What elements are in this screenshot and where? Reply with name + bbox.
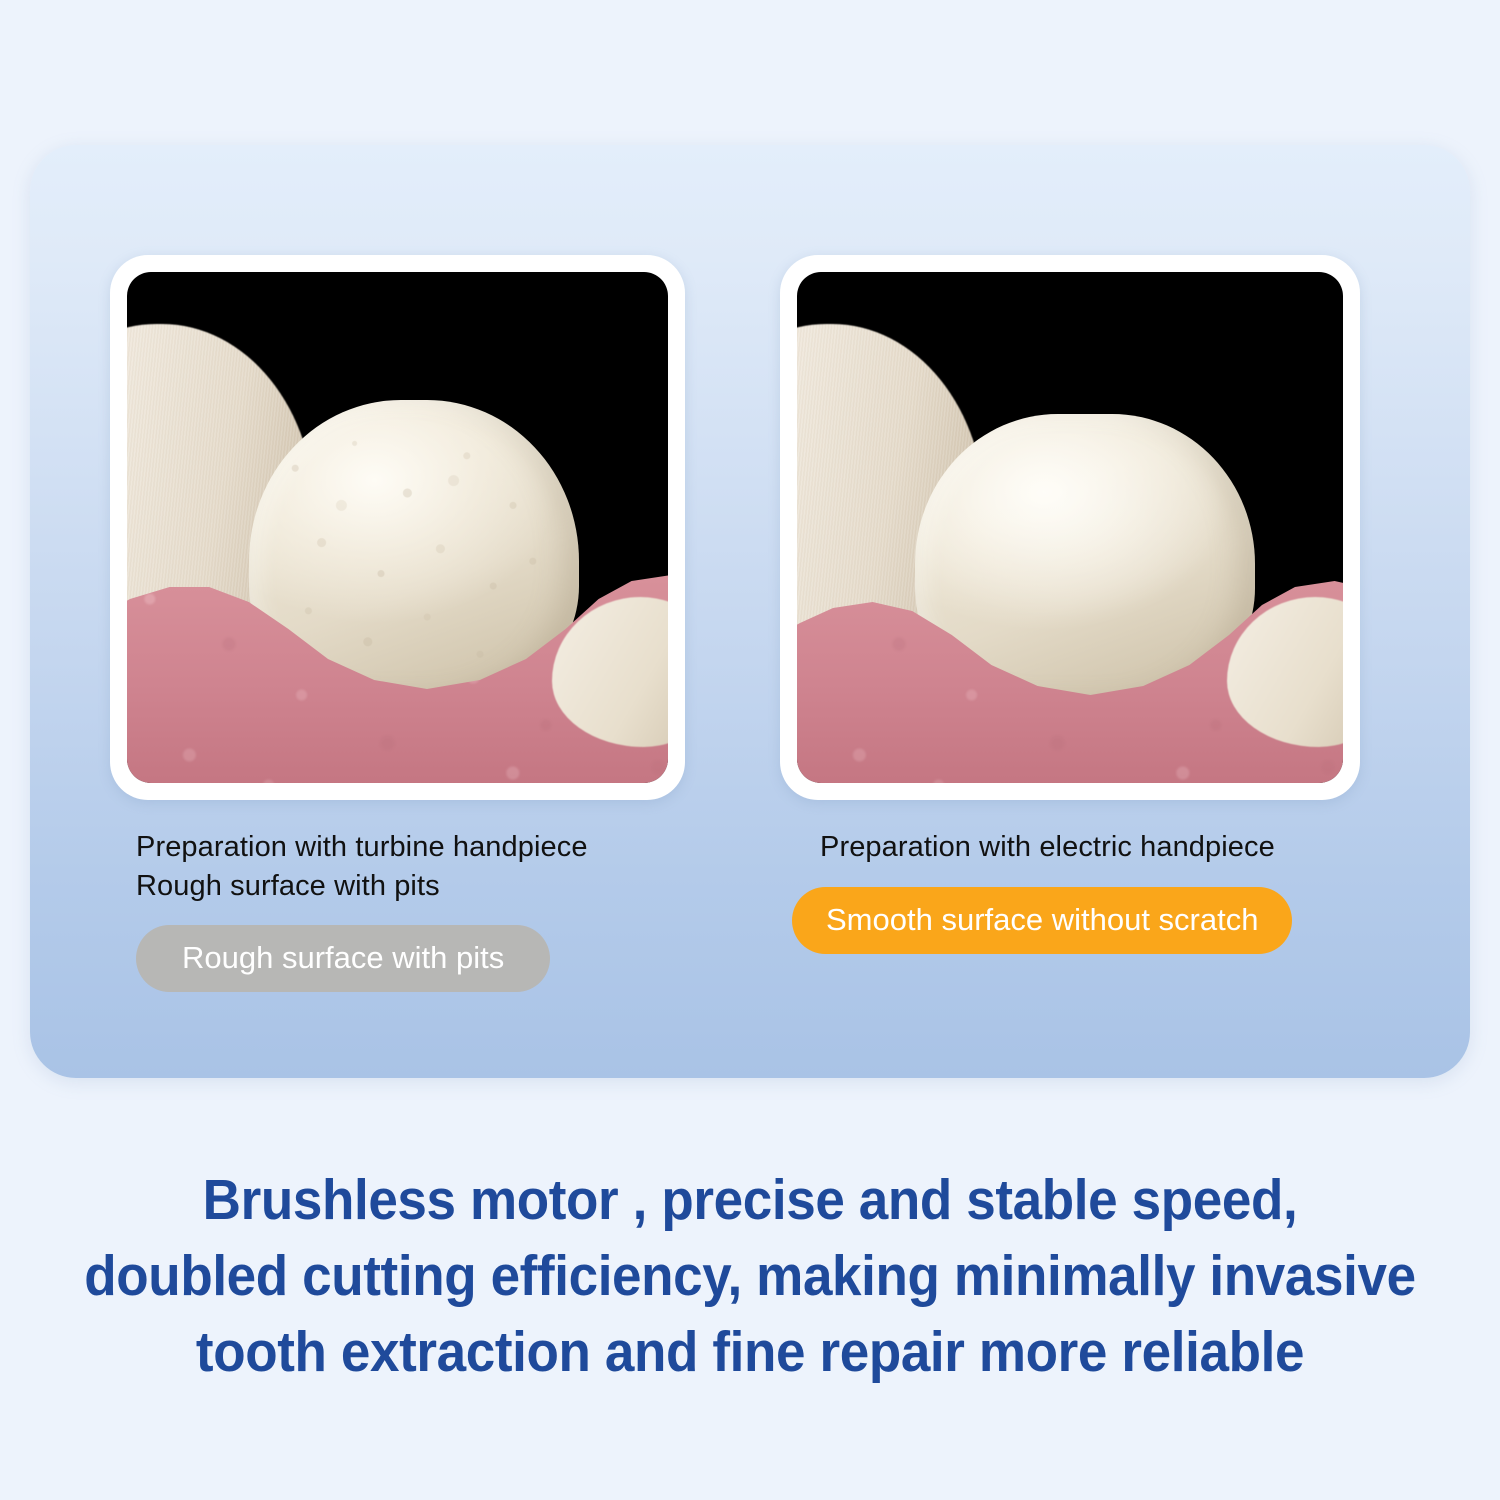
panel-electric: Preparation with electric handpiece Smoo… — [780, 255, 1390, 954]
badge-rough-surface: Rough surface with pits — [136, 925, 550, 992]
caption-line-2: Rough surface with pits — [136, 867, 700, 906]
headline: Brushless motor , precise and stable spe… — [53, 1163, 1448, 1390]
caption-line-1: Preparation with turbine handpiece — [136, 828, 700, 867]
headline-line-2: doubled cutting efficiency, making minim… — [53, 1239, 1448, 1315]
dental-illustration-turbine — [127, 272, 668, 783]
panel-turbine: Preparation with turbine handpiece Rough… — [110, 255, 700, 992]
photo-frame-turbine — [110, 255, 685, 800]
headline-line-3: tooth extraction and fine repair more re… — [53, 1315, 1448, 1391]
badge-smooth-surface: Smooth surface without scratch — [792, 887, 1292, 954]
headline-line-1: Brushless motor , precise and stable spe… — [53, 1163, 1448, 1239]
caption-turbine: Preparation with turbine handpiece Rough… — [110, 828, 700, 905]
caption-line-1: Preparation with electric handpiece — [820, 828, 1390, 867]
dental-illustration-electric — [797, 272, 1343, 783]
caption-electric: Preparation with electric handpiece — [780, 828, 1390, 867]
comparison-panels: Preparation with turbine handpiece Rough… — [30, 145, 1470, 1078]
comparison-card: Preparation with turbine handpiece Rough… — [30, 145, 1470, 1078]
photo-frame-electric — [780, 255, 1360, 800]
